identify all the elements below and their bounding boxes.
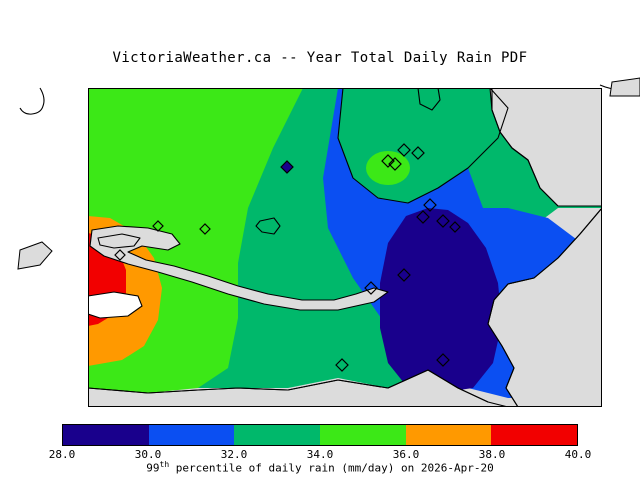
colorbar-band-32-34 <box>234 425 320 445</box>
page-title: VictoriaWeather.ca -- Year Total Daily R… <box>0 50 640 66</box>
colorbar-band-38-40 <box>491 425 577 445</box>
caption-prefix: 99 <box>146 462 159 475</box>
map-panel[interactable] <box>88 88 602 407</box>
colorbar-band-36-38 <box>406 425 492 445</box>
colorbar-band-28-30 <box>63 425 149 445</box>
caption-ordinal-suffix: th <box>160 460 170 469</box>
colorbar-caption: 99th percentile of daily rain (mm/day) o… <box>0 460 640 475</box>
colorbar-band-30-32 <box>149 425 235 445</box>
caption-rest: percentile of daily rain (mm/day) on 202… <box>169 462 494 475</box>
colorbar[interactable] <box>62 424 578 446</box>
figure: VictoriaWeather.ca -- Year Total Daily R… <box>0 0 640 480</box>
colorbar-band-34-36 <box>320 425 406 445</box>
